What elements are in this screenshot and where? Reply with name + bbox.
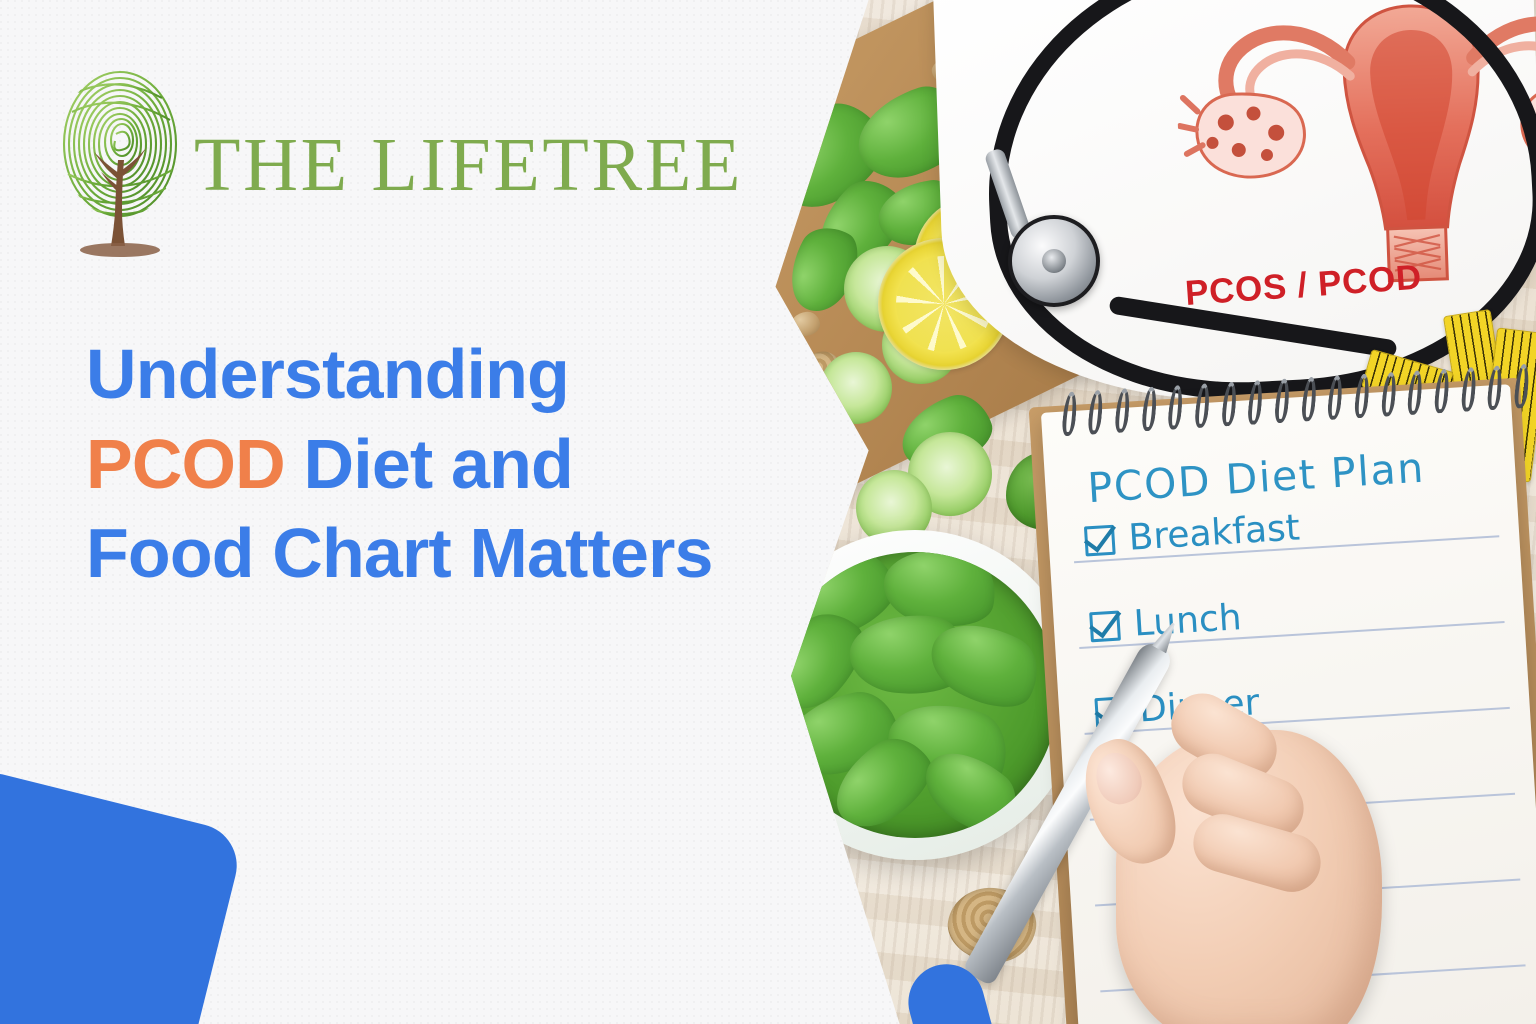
- hand-with-pen-icon: [1060, 610, 1390, 1024]
- headline-line-1: Understanding: [86, 330, 713, 420]
- brand-logo[interactable]: THE LIFETREE: [58, 62, 743, 262]
- brand-wordmark: THE LIFETREE: [194, 127, 743, 203]
- headline-accent-word: PCOD: [86, 425, 285, 503]
- fingerprint-tree-icon: [58, 62, 186, 262]
- thumbnail: [1088, 746, 1148, 811]
- headline-line-2-rest: Diet and: [285, 425, 573, 503]
- spinach-leaves-group: [772, 552, 1058, 838]
- hero-photo-collage: PCOS / PCOD: [760, 0, 1536, 1024]
- checkbox-checked-icon[interactable]: [1084, 524, 1116, 556]
- cucumber-slice-icon: [820, 352, 892, 424]
- headline-line-2: PCOD Diet and: [86, 420, 713, 510]
- stethoscope-chestpiece: [1008, 215, 1100, 307]
- page-title: Understanding PCOD Diet and Food Chart M…: [86, 330, 713, 599]
- spinach-bowl-icon: [760, 530, 1080, 860]
- left-content-column: THE LIFETREE Understanding PCOD Diet and…: [0, 0, 760, 1024]
- headline-line-3: Food Chart Matters: [86, 509, 713, 599]
